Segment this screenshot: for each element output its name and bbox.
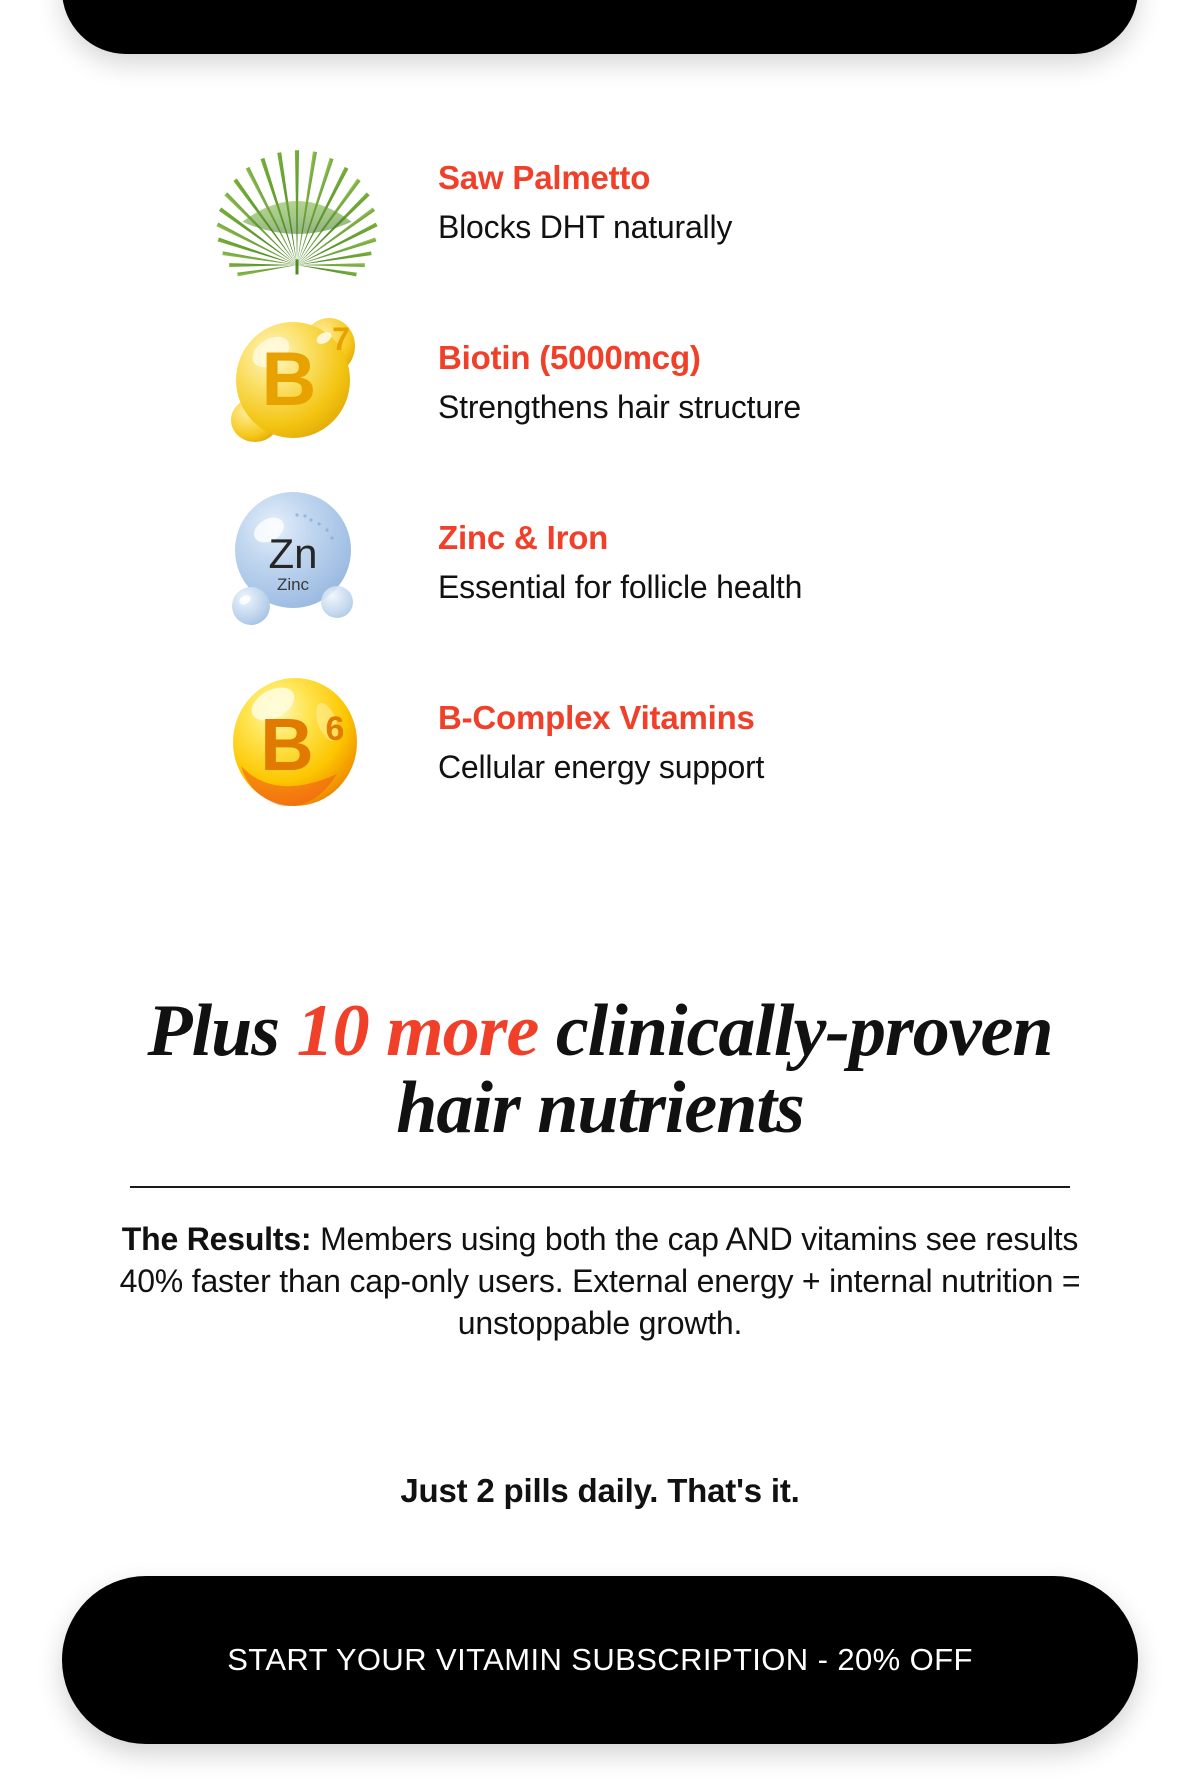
ingredient-row-zinc-iron: Zn Zinc Zinc & Iron Essential for follic… bbox=[0, 472, 1200, 652]
headline-part-1: Plus bbox=[147, 990, 296, 1072]
svg-text:Zinc: Zinc bbox=[277, 575, 310, 594]
svg-text:B: B bbox=[262, 337, 317, 422]
ingredient-list: Saw Palmetto Blocks DHT naturally bbox=[0, 112, 1200, 832]
ingredient-text: B-Complex Vitamins Cellular energy suppo… bbox=[438, 697, 764, 787]
ingredient-text: Saw Palmetto Blocks DHT naturally bbox=[438, 157, 732, 247]
headline-accent: 10 more bbox=[297, 990, 539, 1072]
ingredient-name: Zinc & Iron bbox=[438, 517, 802, 558]
results-paragraph: The Results: Members using both the cap … bbox=[100, 1218, 1100, 1345]
vitamin-b6-capsule-icon: B 6 bbox=[212, 657, 382, 827]
svg-text:Zn: Zn bbox=[268, 530, 317, 577]
ingredient-row-b-complex: B 6 B-Complex Vitamins Cellular energy s… bbox=[0, 652, 1200, 832]
ingredient-name: Biotin (5000mcg) bbox=[438, 337, 801, 378]
results-lead: The Results: bbox=[122, 1221, 312, 1257]
ingredient-row-biotin: B 7 Biotin (5000mcg) Strengthens hair st… bbox=[0, 292, 1200, 472]
vitamin-promo-page: Saw Palmetto Blocks DHT naturally bbox=[0, 0, 1200, 1784]
ingredient-description: Blocks DHT naturally bbox=[438, 207, 732, 247]
ingredient-name: Saw Palmetto bbox=[438, 157, 732, 198]
svg-text:7: 7 bbox=[332, 321, 350, 357]
horizontal-divider bbox=[130, 1186, 1070, 1188]
ingredient-text: Biotin (5000mcg) Strengthens hair struct… bbox=[438, 337, 801, 427]
ingredient-description: Cellular energy support bbox=[438, 747, 764, 787]
ingredient-row-saw-palmetto: Saw Palmetto Blocks DHT naturally bbox=[0, 112, 1200, 292]
palm-frond-icon bbox=[212, 117, 382, 287]
ingredient-description: Strengthens hair structure bbox=[438, 387, 801, 427]
dosage-line: Just 2 pills daily. That's it. bbox=[0, 1472, 1200, 1510]
partial-cta-button[interactable] bbox=[62, 0, 1138, 54]
vitamin-b7-capsule-icon: B 7 bbox=[212, 297, 382, 467]
svg-text:6: 6 bbox=[326, 710, 345, 748]
section-headline: Plus 10 more clinically-proven hair nutr… bbox=[0, 993, 1200, 1147]
zinc-molecule-icon: Zn Zinc bbox=[212, 477, 382, 647]
ingredient-name: B-Complex Vitamins bbox=[438, 697, 764, 738]
start-vitamin-subscription-button[interactable]: START YOUR VITAMIN SUBSCRIPTION - 20% OF… bbox=[62, 1576, 1138, 1744]
ingredient-description: Essential for follicle health bbox=[438, 567, 802, 607]
ingredient-text: Zinc & Iron Essential for follicle healt… bbox=[438, 517, 802, 607]
svg-text:B: B bbox=[260, 703, 313, 786]
